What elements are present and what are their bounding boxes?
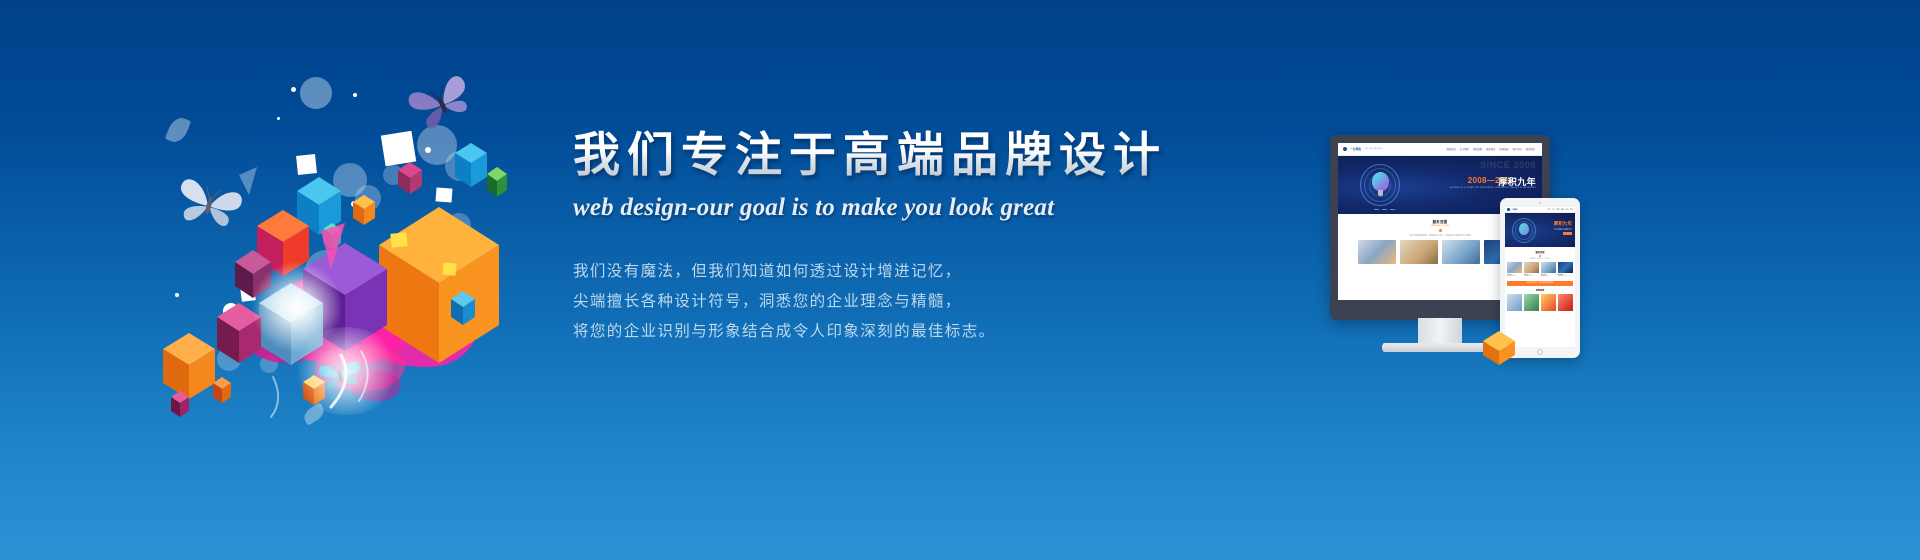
mobile-card-grid: 品牌设计 品牌形象整合设计 平面设计 宣传物料创意设计 移动应用 移动端界面设计… [1505, 262, 1575, 278]
nav-item: 关于我们 [1460, 147, 1469, 151]
thumbnail-item [1358, 240, 1396, 264]
nav-item: 网站首页 [1447, 147, 1456, 151]
mobile-hero-tagline: 专注创意与品牌设计 [1554, 228, 1572, 231]
card-image [1541, 262, 1556, 273]
hero-watermark: SINCE 2008 [1480, 160, 1536, 170]
card-text: 移动端界面设计 [1541, 276, 1556, 278]
mobile-nav-items: 首页 关于 案例 服务 新闻 联系 [1548, 209, 1574, 211]
case-thumb [1524, 294, 1539, 311]
nav-item: 经典案例 [1473, 147, 1482, 151]
nav-item: 案例 [1557, 209, 1560, 211]
orange-cube-decoration [1482, 330, 1516, 366]
banner-paragraph: 我们没有魔法，但我们知道如何透过设计增进记忆， 尖端擅长各种设计符号，洞悉您的企… [573, 257, 1193, 347]
page-subtitle: web design-our goal is to make you look … [573, 194, 1193, 222]
mobile-hero-title: 厚积九年 [1554, 221, 1572, 227]
nav-item: 联系 [1570, 209, 1573, 211]
mobile-logo-text: 一生网络 [1511, 209, 1518, 211]
site-navbar: 一生网络 ONE LIFE NETWORK 网站首页 关于我们 经典案例 服务项… [1338, 143, 1542, 156]
mobile-section-dot [1539, 255, 1541, 257]
hero-slider-dots [1374, 209, 1395, 210]
site-logo-text: 一生网络 [1350, 147, 1361, 151]
card-text: 品牌形象整合设计 [1507, 276, 1522, 278]
mobile-card: 移动应用 移动端界面设计 [1541, 262, 1556, 278]
page-title: 我们专注于高端品牌设计 [573, 128, 1193, 182]
paragraph-line: 尖端擅长各种设计符号，洞悉您的企业理念与精髓， [573, 287, 1193, 317]
monitor-stand-foot [1382, 343, 1498, 352]
section-dot [1439, 229, 1442, 232]
banner-copy: 我们专注于高端品牌设计 web design-our goal is to ma… [573, 128, 1193, 347]
nav-item: 新闻动态 [1499, 147, 1508, 151]
nav-item: 服务 [1561, 209, 1564, 211]
mobile-card: 网站建设 企业网站定制开发 [1558, 262, 1573, 278]
mobile-card: 平面设计 宣传物料创意设计 [1524, 262, 1539, 278]
mobile-section-title: 服务范围 [1505, 250, 1575, 254]
nav-item: 服务项目 [1486, 147, 1495, 151]
tablet-camera-icon [1539, 202, 1541, 204]
card-image [1558, 262, 1573, 273]
site-nav-items: 网站首页 关于我们 经典案例 服务项目 新闻动态 客户评价 联系我们 [1447, 147, 1537, 151]
nav-item: 客户评价 [1513, 147, 1522, 151]
tablet-screen: 一生网络 首页 关于 案例 服务 新闻 联系 厚积九年 专注创意与品牌设计 [1505, 207, 1575, 347]
nav-item: 联系我们 [1526, 147, 1535, 151]
mobile-section-desc: 品牌策划 · 网站建设 · 平面设计 [1505, 258, 1575, 260]
nav-item: 首页 [1548, 209, 1551, 211]
site-logo-subtext: ONE LIFE NETWORK [1364, 148, 1383, 150]
paragraph-line: 我们没有魔法，但我们知道如何透过设计增进记忆， [573, 257, 1193, 287]
hero-subtitle-en: premier is a studio for illustration int… [1450, 186, 1536, 189]
paragraph-line: 将您的企业识别与形象结合成令人印象深刻的最佳标志。 [573, 317, 1193, 347]
ribbon-streak [155, 55, 555, 445]
mobile-hero-banner: 厚积九年 专注创意与品牌设计 [1505, 213, 1575, 247]
mobile-case-grid [1505, 294, 1575, 311]
tablet-home-button [1537, 349, 1543, 355]
lightbulb-network-icon [1512, 218, 1536, 243]
device-mockup-group: 一生网络 ONE LIFE NETWORK 网站首页 关于我们 经典案例 服务项… [1300, 130, 1630, 400]
nav-item: 新闻 [1566, 209, 1569, 211]
nav-item: 关于 [1552, 209, 1555, 211]
site-logo-icon [1343, 147, 1347, 151]
thumbnail-item [1442, 240, 1480, 264]
mobile-section2-title: 经典案例 [1505, 289, 1575, 292]
mobile-card: 品牌设计 品牌形象整合设计 [1507, 262, 1522, 278]
mobile-logo-icon [1507, 208, 1510, 211]
thumbnail-item [1400, 240, 1438, 264]
mobile-hero-button [1563, 232, 1572, 235]
mobile-cta-bar: 专业的设计团队 · 为您打造优质品牌形象 [1507, 281, 1573, 286]
card-image [1524, 262, 1539, 273]
case-thumb [1541, 294, 1556, 311]
abstract-artwork [155, 55, 555, 445]
lightbulb-network-icon [1360, 164, 1400, 206]
mobile-cta-text: 专业的设计团队 · 为您打造优质品牌形象 [1527, 282, 1554, 284]
card-image [1507, 262, 1522, 273]
case-thumb [1507, 294, 1522, 311]
case-thumb [1558, 294, 1573, 311]
card-text: 企业网站定制开发 [1558, 276, 1573, 278]
card-text: 宣传物料创意设计 [1524, 276, 1539, 278]
